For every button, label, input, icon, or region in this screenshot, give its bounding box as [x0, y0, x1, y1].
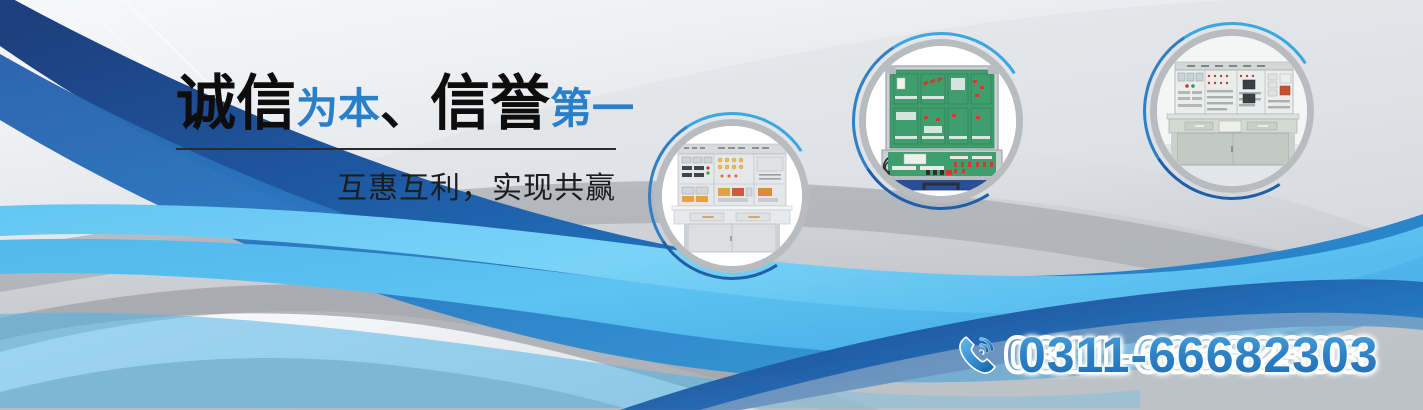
headline-divider	[176, 148, 616, 150]
headline-part-1: 诚信	[176, 74, 296, 134]
product-image-1	[662, 126, 802, 266]
product-circle-3[interactable]	[1143, 22, 1321, 200]
headline-block: 诚信 为本 、 信誉 第一 互惠互利，实现共赢	[176, 74, 620, 207]
phone-number[interactable]: 0311-66682303	[1018, 327, 1379, 383]
headline-part-4: 第一	[550, 88, 634, 130]
headline-part-3: 信誉	[430, 74, 550, 134]
headline: 诚信 为本 、 信誉 第一	[176, 74, 620, 136]
suitcase-trainer-illustration	[866, 46, 1016, 196]
product-circle-1[interactable]	[648, 112, 816, 280]
product-circle-2[interactable]	[852, 32, 1030, 210]
subtitle: 互惠互利，实现共赢	[176, 163, 616, 207]
headline-part-2: 为本	[296, 88, 380, 130]
contact-phone-row[interactable]: 0311-66682303 0311-66682303	[952, 326, 1379, 384]
promo-banner: 诚信 为本 、 信誉 第一 互惠互利，实现共赢	[0, 0, 1423, 410]
phone-ringing-icon	[952, 329, 1004, 381]
headline-punctuation: 、	[380, 82, 430, 132]
workbench-illustration	[662, 126, 802, 266]
product-image-2	[866, 46, 1016, 196]
motor-bench-illustration	[1157, 36, 1307, 186]
product-image-3	[1157, 36, 1307, 186]
